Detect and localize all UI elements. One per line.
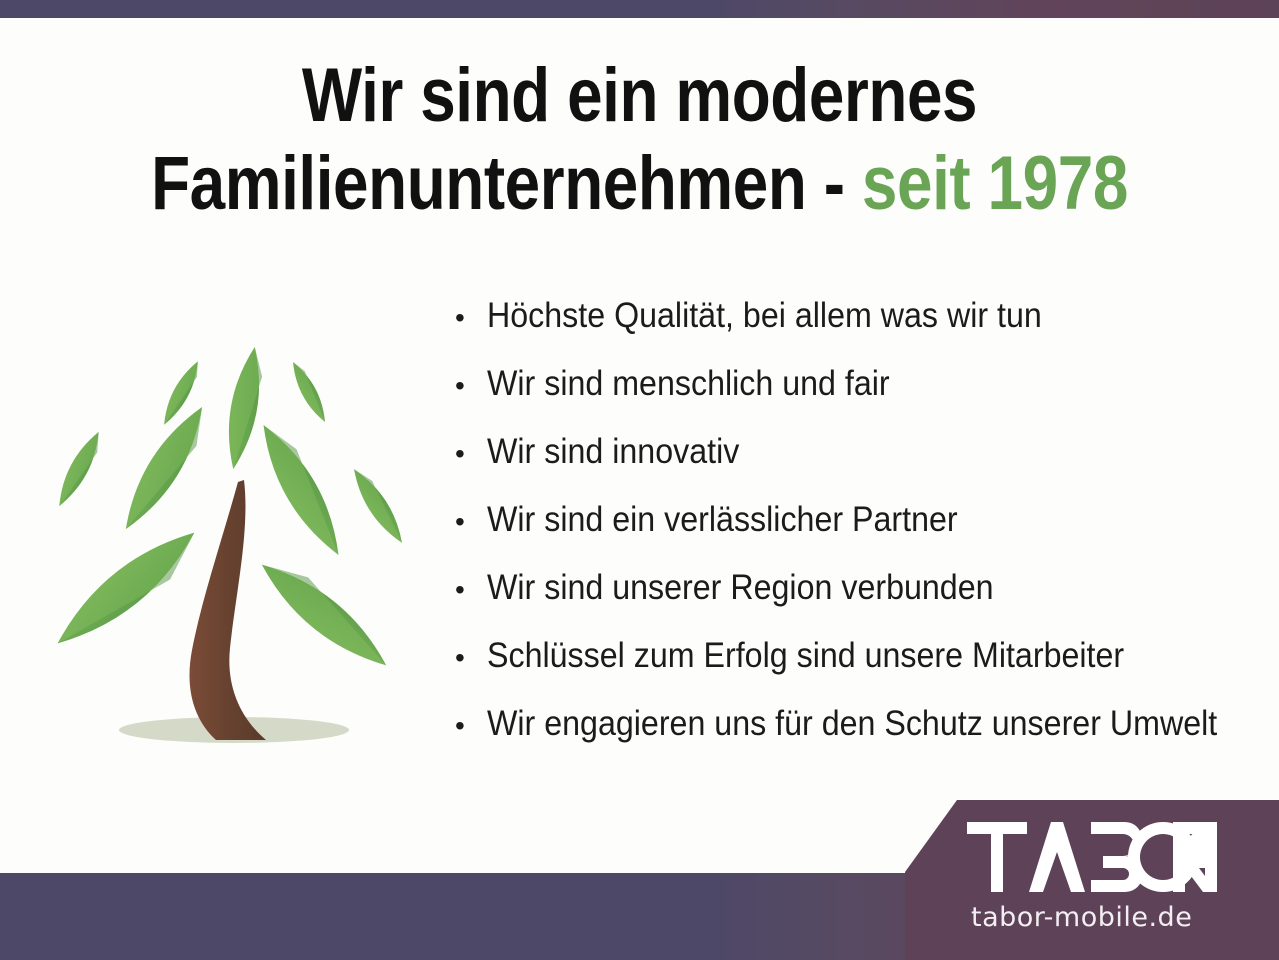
tree-leaf	[250, 417, 353, 563]
list-item: • Höchste Qualität, bei allem was wir tu…	[455, 296, 1265, 364]
list-item: • Wir sind innovativ	[455, 432, 1265, 500]
tree-leaf	[287, 359, 332, 426]
tree-illustration	[26, 330, 446, 770]
headline-accent-year: seit 1978	[862, 141, 1128, 226]
logo-panel: tabor-mobile.de	[905, 800, 1279, 960]
tabor-logo-wordmark	[967, 822, 1217, 892]
bullet-marker-icon: •	[455, 440, 487, 468]
tree-leaf	[113, 399, 216, 538]
list-item-label: Wir sind ein verlässlicher Partner	[487, 500, 1203, 540]
headline-line-2-black: Familienunternehmen -	[151, 141, 862, 226]
tree-leaf	[346, 464, 409, 548]
tree-leaf	[46, 518, 208, 660]
tree-leaf	[51, 428, 106, 510]
list-item-label: Wir sind menschlich und fair	[487, 364, 1203, 404]
headline-line-2: Familienunternehmen - seit 1978	[102, 140, 1176, 228]
page-title: Wir sind ein modernes Familienunternehme…	[102, 52, 1176, 228]
list-item: • Schlüssel zum Erfolg sind unsere Mitar…	[455, 636, 1265, 704]
value-bullet-list: • Höchste Qualität, bei allem was wir tu…	[455, 296, 1265, 772]
list-item: • Wir sind unserer Region verbunden	[455, 568, 1265, 636]
bullet-marker-icon: •	[455, 304, 487, 332]
bullet-marker-icon: •	[455, 576, 487, 604]
list-item: • Wir sind menschlich und fair	[455, 364, 1265, 432]
list-item-label: Höchste Qualität, bei allem was wir tun	[487, 296, 1203, 336]
bullet-marker-icon: •	[455, 372, 487, 400]
tree-leaf	[251, 550, 398, 679]
list-item-label: Wir engagieren uns für den Schutz unsere…	[487, 704, 1217, 744]
list-item: • Wir sind ein verlässlicher Partner	[455, 500, 1265, 568]
headline-line-1: Wir sind ein modernes	[102, 52, 1176, 140]
bullet-marker-icon: •	[455, 508, 487, 536]
tabor-logo-url: tabor-mobile.de	[971, 904, 1192, 931]
list-item-label: Schlüssel zum Erfolg sind unsere Mitarbe…	[487, 636, 1203, 676]
bullet-marker-icon: •	[455, 644, 487, 672]
tree-trunk	[189, 480, 266, 740]
top-accent-bar	[0, 0, 1279, 18]
list-item-label: Wir sind innovativ	[487, 432, 1203, 472]
list-item: • Wir engagieren uns für den Schutz unse…	[455, 704, 1265, 772]
slide-canvas: Wir sind ein modernes Familienunternehme…	[0, 0, 1279, 960]
list-item-label: Wir sind unserer Region verbunden	[487, 568, 1203, 608]
tree-leaf	[220, 345, 267, 472]
bullet-marker-icon: •	[455, 712, 487, 740]
